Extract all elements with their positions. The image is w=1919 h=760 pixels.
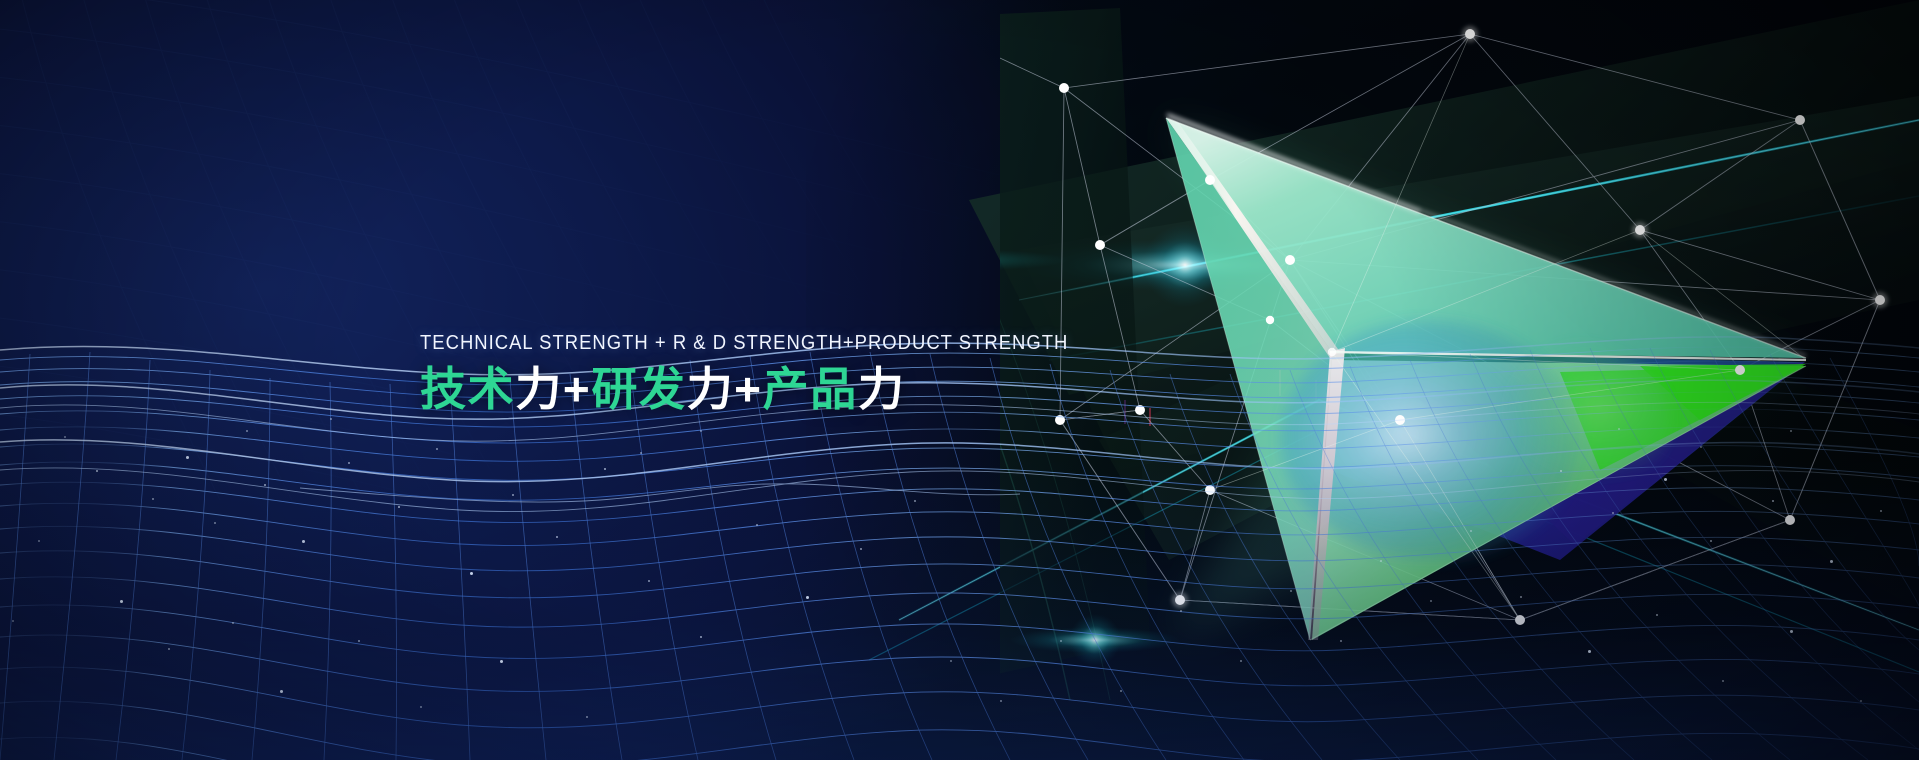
hero-banner: TECHNICAL STRENGTH + R & D STRENGTH+PROD… [0,0,1919,760]
headline-segment-6: 力 [858,363,906,415]
headline-segment-1: 技术 [420,363,515,415]
hero-eyebrow: TECHNICAL STRENGTH + R & D STRENGTH+PROD… [420,332,1086,355]
headline-segment-3: 研发 [591,363,686,415]
hero-text-block: TECHNICAL STRENGTH + R & D STRENGTH+PROD… [420,332,1160,415]
headline-segment-2: 力+ [515,363,591,415]
hero-headline: 技术力+研发力+产品力 [420,364,1160,416]
headline-segment-4: 力+ [687,363,763,415]
headline-segment-5: 产品 [763,363,858,415]
